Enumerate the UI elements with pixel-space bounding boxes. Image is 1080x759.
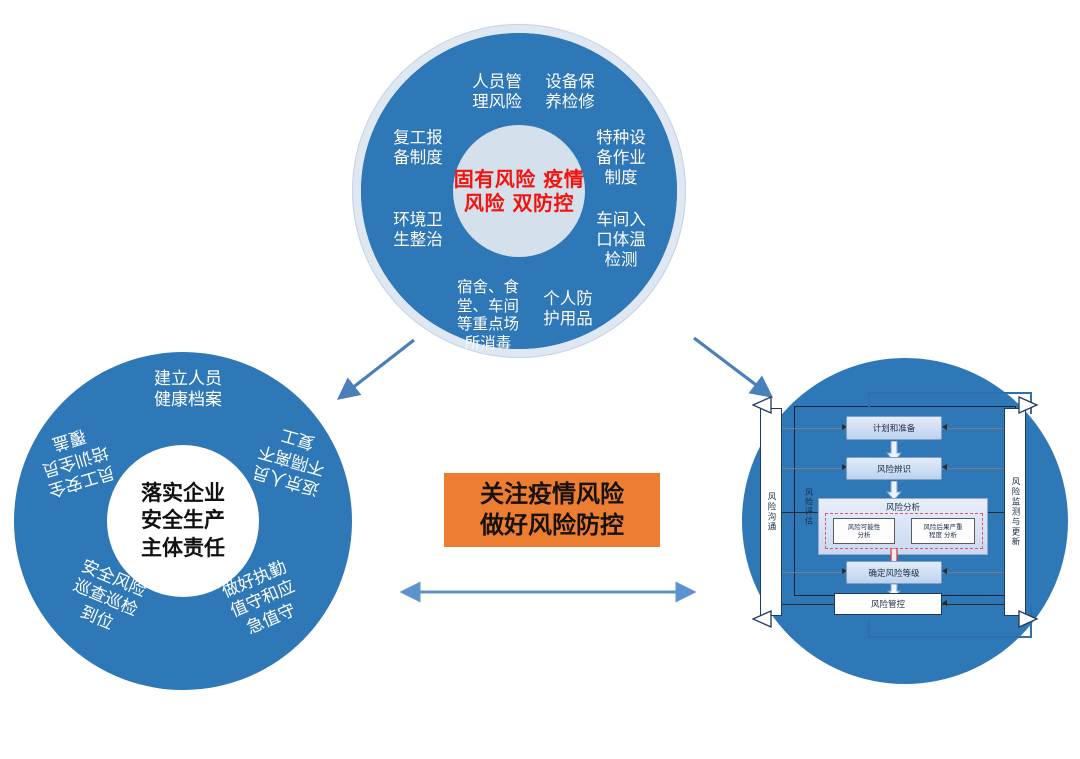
- top-wheel-label-workshop-entrance-temperature: 车间入 口体温 检测: [580, 210, 662, 269]
- step-determine-risk-level-label: 确定风险等级: [868, 567, 919, 579]
- loop-bottom-line: [868, 636, 1032, 638]
- risk-communication-label: 风险沟通: [765, 492, 777, 532]
- analysis-likelihood-box[interactable]: 风险可能性 分析: [833, 518, 895, 544]
- top-wheel: 人员管 理风险 设备保 养检修 特种设 备作业 制度 车间入 口体温 检测 个人…: [352, 24, 686, 358]
- line-left-to-plan: [782, 428, 846, 429]
- top-wheel-hub: 固有风险 疫情风险 双防控: [453, 125, 585, 257]
- step-risk-analysis[interactable]: 风险分析 风险可能性 分析 风险后果严重 程度 分析: [818, 498, 988, 555]
- corner-triangle-top-left-icon: [752, 396, 772, 414]
- arrow-top-to-left-wheel: [318, 330, 428, 420]
- line-control-to-right: [942, 604, 1004, 605]
- arrowhead-into-control-right: [942, 600, 947, 606]
- corner-triangle-bottom-right-icon: [1018, 610, 1038, 628]
- right-circle: 风险沟通 风险监测与更新 风险评估: [742, 358, 1068, 684]
- loop-top-line: [868, 392, 1032, 394]
- corner-triangle-bottom-left-icon: [752, 610, 772, 628]
- top-wheel-center-text: 固有风险 疫情风险 双防控: [453, 167, 585, 216]
- left-wheel: 建立人员 健康档案 返京人员 不隔离不 复工 做好执勤 值守和应 急值守 安全风…: [14, 352, 352, 690]
- corner-triangle-top-right-icon: [1018, 396, 1038, 414]
- line-identify-to-right: [942, 468, 1004, 469]
- risk-communication-column[interactable]: 风险沟通: [760, 408, 782, 616]
- epidemic-risk-banner: 关注疫情风险 做好风险防控: [444, 473, 660, 547]
- risk-assessment-label-wrap: 风险评估: [802, 464, 816, 550]
- step-plan-and-prepare-label: 计划和准备: [873, 422, 916, 434]
- line-analysis-to-right: [988, 512, 1004, 513]
- left-wheel-label-health-records: 建立人员 健康档案: [128, 369, 248, 412]
- risk-assessment-label: 风险评估: [804, 488, 815, 526]
- left-wheel-center-text: 落实企业 安全生产 主体责任: [141, 480, 225, 562]
- step-risk-control[interactable]: 风险管控: [834, 593, 942, 615]
- arrow-left-wheel-to-right-circle: [392, 578, 704, 606]
- analysis-likelihood-label: 风险可能性 分析: [848, 523, 881, 539]
- top-wheel-label-environmental-sanitation: 环境卫 生整治: [376, 210, 460, 250]
- top-wheel-label-personal-protective-equipment: 个人防 护用品: [526, 289, 610, 329]
- analysis-consequence-box[interactable]: 风险后果严重 程度 分析: [911, 518, 975, 544]
- loop-bottom-stub: [868, 620, 870, 638]
- risk-monitoring-label: 风险监测与更新: [1009, 477, 1021, 547]
- arrowhead-into-identify-right: [942, 464, 947, 470]
- step-risk-identification[interactable]: 风险辨识: [846, 457, 942, 480]
- step-risk-control-label: 风险管控: [871, 598, 905, 610]
- banner-text: 关注疫情风险 做好风险防控: [480, 479, 624, 541]
- risk-process-flow: 风险沟通 风险监测与更新 风险评估: [756, 392, 1054, 650]
- loop-top-stub: [868, 392, 870, 408]
- top-wheel-label-equipment-maintenance: 设备保 养检修: [528, 72, 612, 112]
- arrowhead-into-level-right: [942, 568, 947, 574]
- line-left-to-level: [782, 572, 846, 573]
- step-plan-and-prepare[interactable]: 计划和准备: [846, 416, 942, 440]
- step-risk-analysis-label: 风险分析: [819, 501, 987, 513]
- top-wheel-label-special-equipment-operation: 特种设 备作业 制度: [580, 128, 662, 187]
- analysis-consequence-label: 风险后果严重 程度 分析: [924, 523, 963, 539]
- line-level-to-right: [942, 572, 1004, 573]
- risk-monitoring-column[interactable]: 风险监测与更新: [1004, 408, 1026, 616]
- line-left-to-identify: [782, 468, 846, 469]
- step-determine-risk-level[interactable]: 确定风险等级: [846, 561, 942, 584]
- line-plan-to-right: [942, 428, 1004, 429]
- top-wheel-label-key-area-disinfection: 宿舍、食 堂、车间 等重点场 所消毒: [442, 278, 534, 352]
- step-risk-identification-label: 风险辨识: [877, 463, 911, 475]
- top-wheel-label-personnel-management-risk: 人员管 理风险: [455, 72, 539, 112]
- diagram-canvas: 人员管 理风险 设备保 养检修 特种设 备作业 制度 车间入 口体温 检测 个人…: [0, 0, 1080, 724]
- top-wheel-label-resumption-filing-system: 复工报 备制度: [376, 128, 460, 168]
- arrowhead-into-plan-right: [942, 424, 947, 430]
- left-wheel-hub: 落实企业 安全生产 主体责任: [107, 445, 259, 597]
